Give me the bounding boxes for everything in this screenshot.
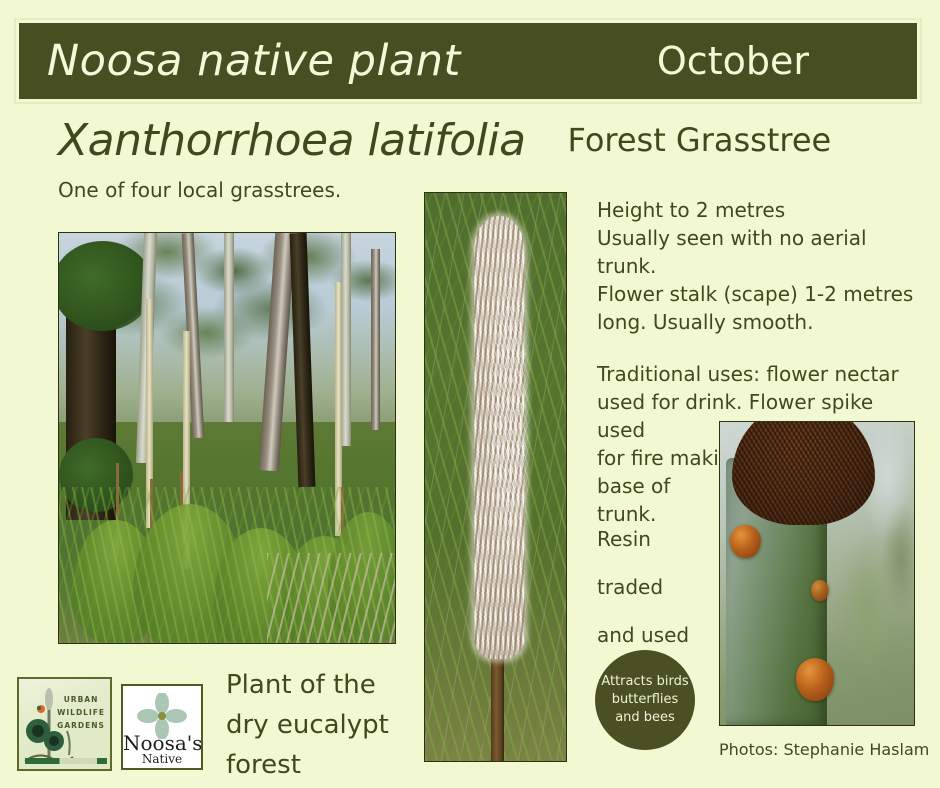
badge-line: butterflies <box>612 691 679 709</box>
month-label: October <box>657 39 809 83</box>
tree-trunk <box>371 249 379 429</box>
fact-line: Usually seen with no aerial trunk. <box>597 224 927 280</box>
resin-droplet <box>730 525 761 558</box>
attracts-wildlife-badge: Attracts birds butterflies and bees <box>595 650 695 750</box>
tree-trunk <box>224 233 234 422</box>
badge-line: Attracts birds <box>601 673 688 691</box>
logo-uwg-line1: URBAN <box>57 693 105 706</box>
uses-line: base of <box>597 472 717 500</box>
paragraph-spacer <box>597 336 927 360</box>
species-heading: Xanthorrhoea latifolia Forest Grasstree <box>0 112 940 168</box>
logo-uwg-text: URBAN WILDLIFE GARDENS <box>57 693 105 732</box>
resin-photo-art <box>720 422 914 725</box>
habitat-photo <box>58 232 396 644</box>
logo-nnp-word: Noosa's <box>123 732 201 754</box>
resin-droplet <box>796 658 835 700</box>
logo-urban-wildlife-gardens[interactable]: URBAN WILDLIFE GARDENS <box>17 677 112 771</box>
fact-line: Flower stalk (scape) 1-2 metres <box>597 280 927 308</box>
badge-line: and bees <box>615 709 675 727</box>
flower-spike-photo-art <box>425 193 566 761</box>
fact-line: long. Usually smooth. <box>597 308 927 336</box>
logo-uwg-footer-bar <box>25 758 107 764</box>
resin-line: traded <box>597 573 717 601</box>
flower-spike-photo <box>424 192 567 762</box>
logo-uwg-line3: GARDENS <box>57 719 105 732</box>
spike-floret-fuzz <box>476 204 541 670</box>
fallen-branch <box>267 553 395 643</box>
common-name: Forest Grasstree <box>568 121 832 159</box>
fact-line: Height to 2 metres <box>597 196 927 224</box>
intro-text: One of four local grasstrees. <box>58 178 341 202</box>
header-banner-inner: Noosa native plant October <box>19 23 917 99</box>
habitat-photo-art <box>59 233 395 643</box>
scientific-name: Xanthorrhoea latifolia <box>58 115 526 166</box>
tagline: Plant of the dry eucalypt forest <box>226 665 426 785</box>
photo-credit: Photos: Stephanie Haslam <box>719 740 929 759</box>
resin-photo <box>719 421 915 726</box>
logo-noosas-native-plants[interactable]: Noosa's Native Plants <box>121 684 203 770</box>
resin-line: Resin <box>597 525 717 553</box>
uses-line: Traditional uses: flower nectar <box>597 360 927 388</box>
tree-trunk <box>341 233 351 446</box>
logo-nnp-sub: Native Plants <box>123 752 201 770</box>
poster-page: Noosa native plant October Xanthorrhoea … <box>0 0 940 788</box>
grub-frass-mass <box>732 421 876 525</box>
resin-droplet <box>811 580 828 601</box>
page-title: Noosa native plant <box>47 36 461 86</box>
logo-uwg-line2: WILDLIFE <box>57 706 105 719</box>
header-banner: Noosa native plant October <box>14 18 922 104</box>
resin-line: and used <box>597 621 717 649</box>
